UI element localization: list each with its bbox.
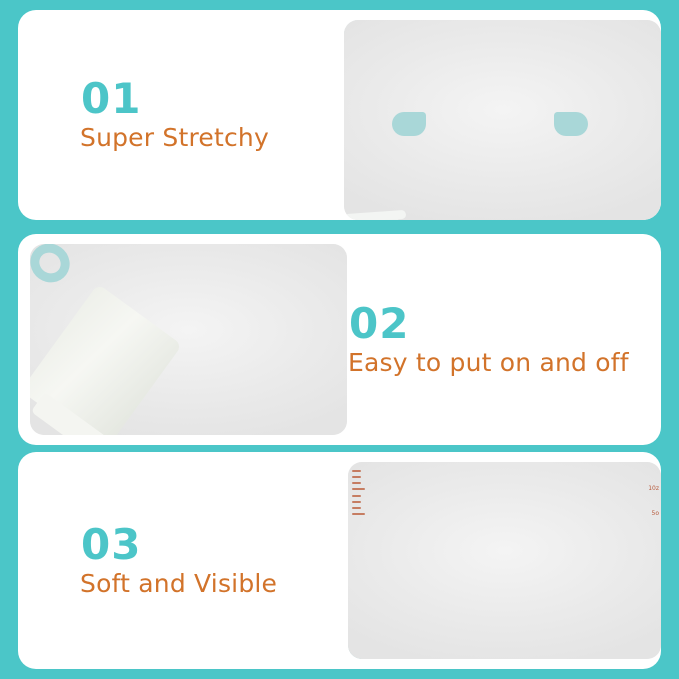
sleeve-left-handle-icon (392, 112, 426, 136)
measure-tick (352, 495, 361, 497)
product-feature-infographic: 01 Super Stretchy (0, 0, 679, 679)
measure-label-upper: 10z (648, 485, 659, 492)
measure-tick (352, 476, 361, 478)
feature-caption-01: Super Stretchy (80, 123, 269, 153)
feature-card-03: 03 Soft and Visible 10z (18, 452, 661, 669)
feature-photo-01 (344, 20, 661, 220)
feature-text-02: 02 Easy to put on and off (348, 301, 629, 377)
photo-backdrop (348, 462, 661, 659)
feature-number-02: 02 (349, 301, 629, 345)
measure-tick (352, 507, 361, 509)
measure-tick (352, 501, 361, 503)
feature-card-02: 02 Easy to put on and off (18, 234, 661, 445)
measure-tick-major (352, 513, 365, 515)
feature-number-01: 01 (81, 77, 269, 121)
measure-tick (352, 470, 361, 472)
sleeve-right-handle-icon (554, 112, 588, 136)
feature-number-03: 03 (81, 522, 277, 566)
feature-photo-02 (30, 244, 347, 435)
measure-tick (352, 482, 361, 484)
measure-tick-major (352, 488, 365, 490)
feature-text-01: 01 Super Stretchy (80, 77, 269, 153)
feature-text-03: 03 Soft and Visible (80, 522, 277, 598)
feature-photo-03: 10z 5o (348, 462, 661, 659)
feature-caption-03: Soft and Visible (80, 569, 277, 599)
feature-caption-02: Easy to put on and off (348, 348, 629, 378)
feature-card-01: 01 Super Stretchy (18, 10, 661, 220)
measure-label-lower: 5o (652, 510, 660, 517)
